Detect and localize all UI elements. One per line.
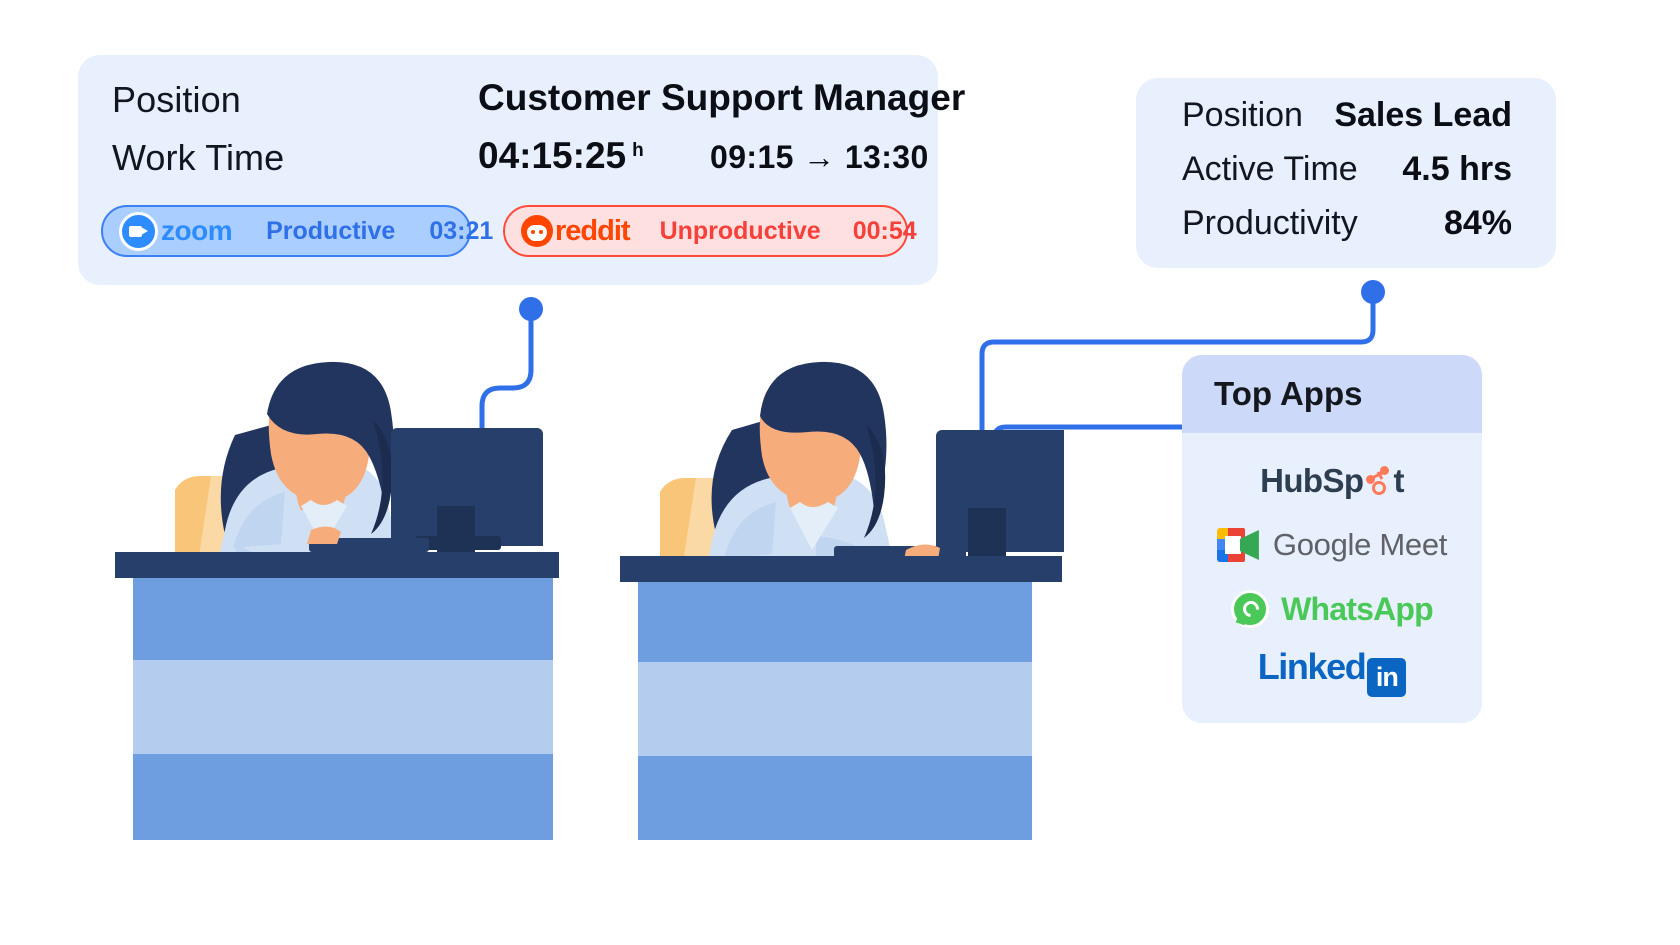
chip-duration: 00:54 bbox=[853, 217, 917, 246]
work-time-label: Work Time bbox=[112, 137, 284, 179]
hubspot-logo: HubSpt bbox=[1260, 462, 1404, 500]
work-time-range: 09:15 → 13:30 bbox=[710, 139, 929, 176]
position-value: Customer Support Manager bbox=[478, 77, 965, 119]
list-item[interactable]: Linkedin bbox=[1182, 645, 1482, 697]
workstation-illustration-2 bbox=[620, 300, 1070, 840]
meet-word: Meet bbox=[1379, 527, 1447, 562]
productivity-value: 84% bbox=[1444, 204, 1512, 243]
google-meet-icon bbox=[1217, 528, 1259, 562]
zoom-wordmark: zoom bbox=[161, 215, 232, 247]
position-label: Position bbox=[1182, 96, 1303, 135]
zoom-icon: zoom bbox=[119, 212, 232, 251]
chip-duration: 03:21 bbox=[429, 217, 493, 246]
linkedin-in-icon: in bbox=[1367, 658, 1406, 697]
work-time-unit: h bbox=[632, 140, 644, 162]
workstation-illustration-1 bbox=[115, 330, 565, 840]
top-apps-title: Top Apps bbox=[1214, 375, 1362, 413]
activity-chip-zoom[interactable]: zoom Productive 03:21 bbox=[101, 205, 471, 257]
hubspot-wordmark-a: HubSp bbox=[1260, 462, 1363, 499]
hubspot-sprocket-icon bbox=[1363, 466, 1393, 496]
chip-state-label: Unproductive bbox=[660, 217, 821, 246]
list-item[interactable]: WhatsApp bbox=[1182, 583, 1482, 635]
linkedin-wordmark: Linked bbox=[1258, 646, 1366, 687]
list-item[interactable]: Google Meet bbox=[1182, 519, 1482, 571]
illustration-stage: Position Work Time Customer Support Mana… bbox=[0, 0, 1680, 945]
work-time-value: 04:15:25 bbox=[478, 135, 626, 177]
active-time-label: Active Time bbox=[1182, 150, 1358, 189]
google-meet-wordmark: Google Meet bbox=[1273, 527, 1447, 563]
productivity-label: Productivity bbox=[1182, 204, 1358, 243]
top-apps-header: Top Apps bbox=[1182, 355, 1482, 433]
hubspot-wordmark-b: t bbox=[1393, 462, 1403, 499]
employee-card-1: Position Work Time Customer Support Mana… bbox=[78, 55, 938, 285]
chip-state-label: Productive bbox=[266, 217, 395, 246]
top-apps-panel: Top Apps HubSpt Google Meet WhatsApp Lin… bbox=[1182, 355, 1482, 723]
list-item[interactable]: HubSpt bbox=[1182, 455, 1482, 507]
whatsapp-wordmark: WhatsApp bbox=[1281, 591, 1433, 628]
linkedin-logo: Linkedin bbox=[1258, 646, 1407, 697]
activity-chip-reddit[interactable]: reddit Unproductive 00:54 bbox=[503, 205, 908, 257]
active-time-value: 4.5 hrs bbox=[1402, 150, 1512, 189]
position-value: Sales Lead bbox=[1334, 96, 1512, 135]
reddit-wordmark: reddit bbox=[555, 215, 630, 248]
employee-card-2: Position Sales Lead Active Time 4.5 hrs … bbox=[1136, 78, 1556, 268]
reddit-icon: reddit bbox=[521, 215, 630, 248]
position-label: Position bbox=[112, 79, 241, 121]
work-time-value-group: 04:15:25 h bbox=[478, 135, 644, 177]
whatsapp-icon bbox=[1231, 590, 1269, 628]
google-word: Google bbox=[1273, 527, 1379, 562]
